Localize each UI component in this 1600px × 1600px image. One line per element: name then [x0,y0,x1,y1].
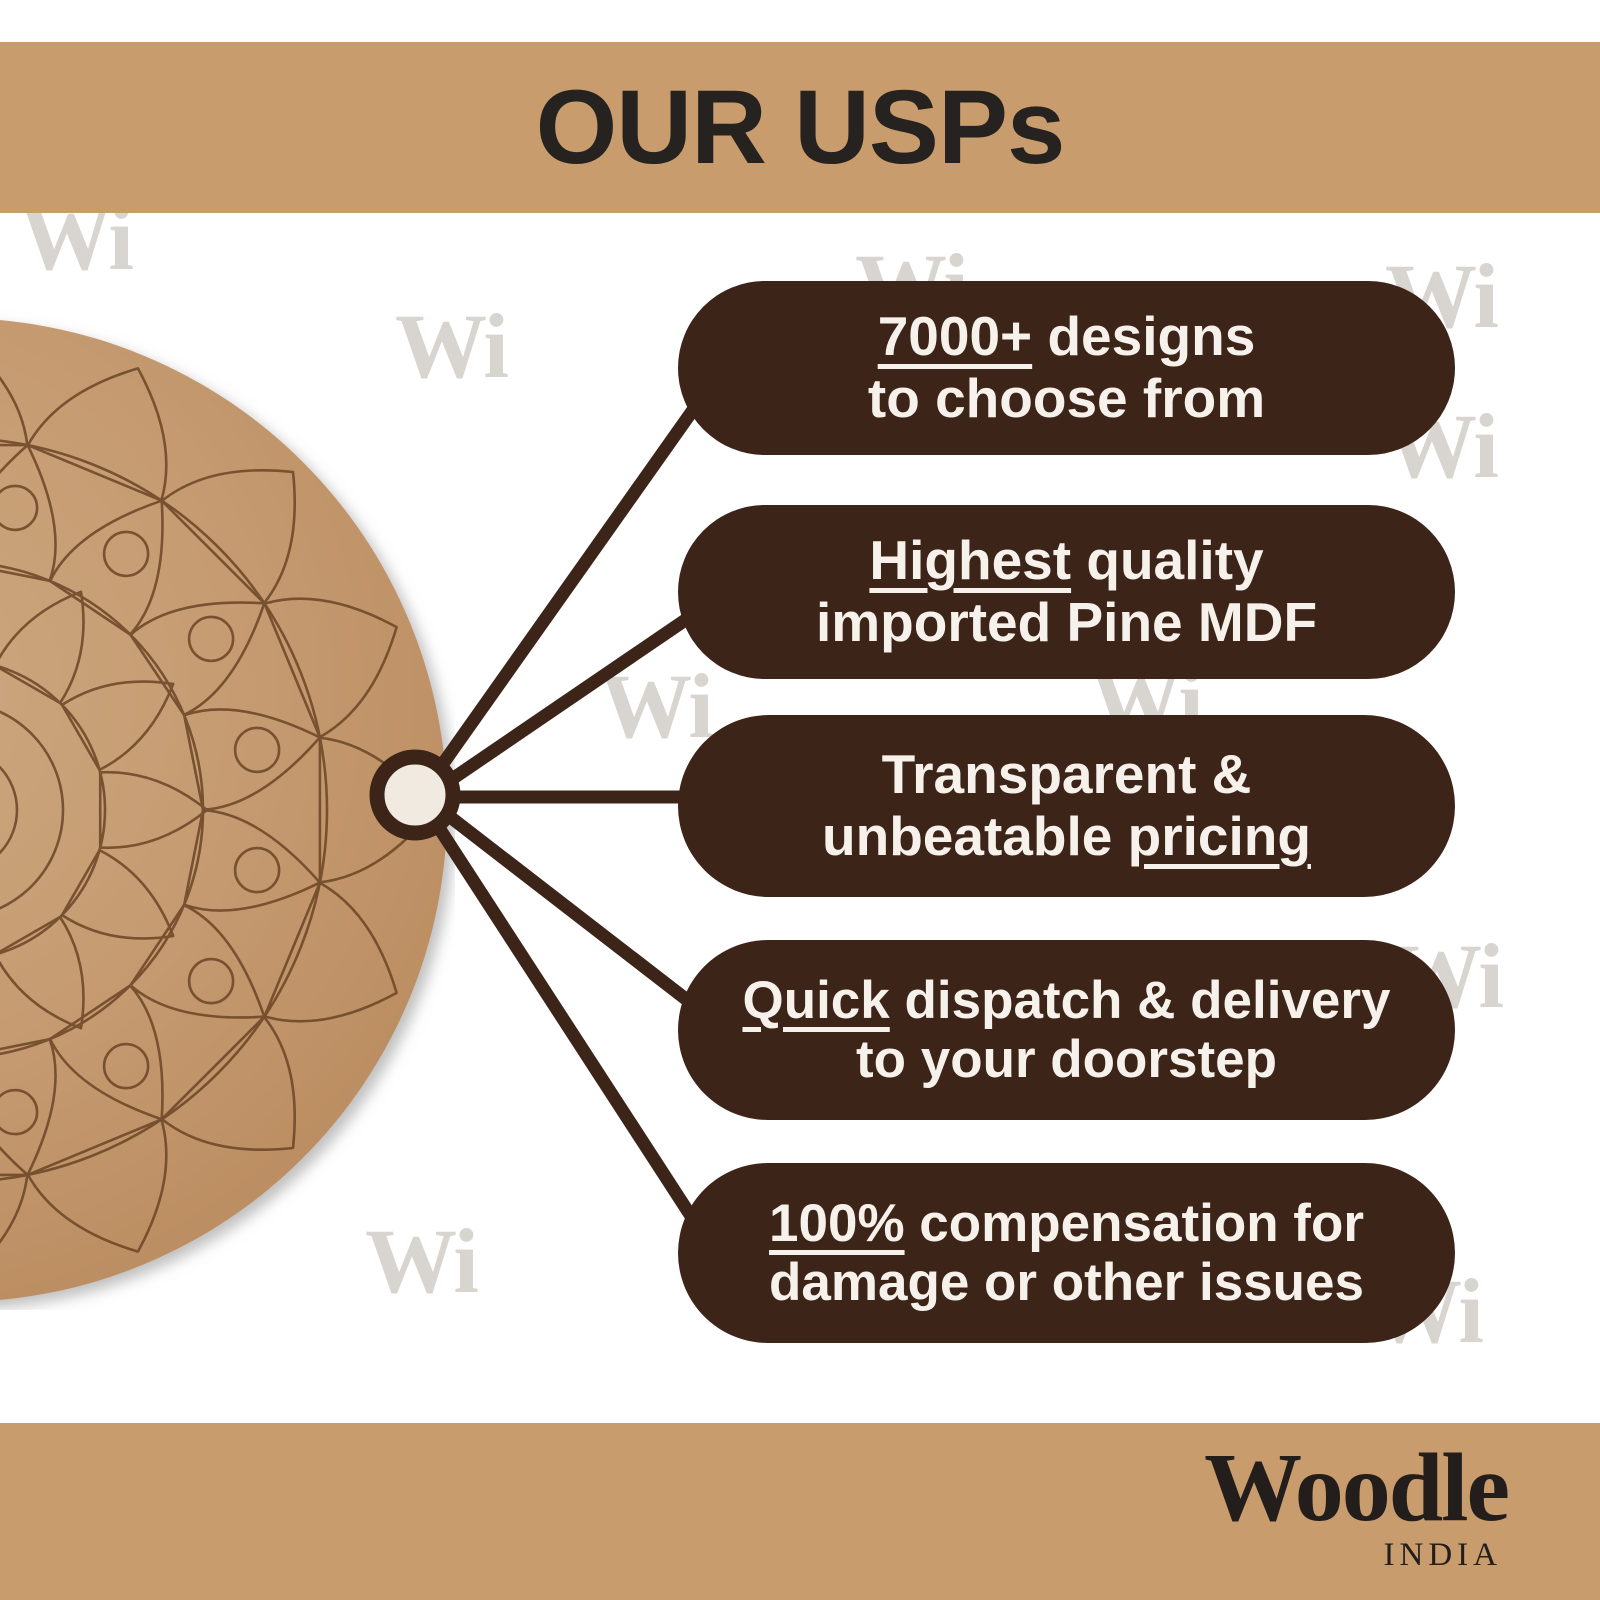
brand-name: Woodle [1204,1439,1508,1537]
usp-card-line: Quick dispatch & delivery [742,971,1390,1030]
header-banner: OUR USPs [0,42,1600,213]
usp-card-line: imported Pine MDF [816,592,1317,654]
usp-card-line: 7000+ designs [878,306,1256,368]
usp-highlight: 100% [769,1194,905,1253]
usp-text: to choose from [868,367,1265,429]
brand-subtitle: INDIA [1204,1539,1502,1572]
footer-banner: Woodle INDIA [0,1423,1600,1600]
usp-highlight: Quick [742,971,889,1030]
usp-text: unbeatable [822,805,1128,867]
usp-text: Transparent & [882,743,1252,805]
brand-logo: Woodle INDIA [1204,1439,1508,1572]
usp-card-compensation[interactable]: 100% compensation for damage or other is… [678,1163,1455,1343]
connector-to-usp-2 [436,610,700,790]
usp-highlight: 7000+ [878,305,1032,367]
page-title: OUR USPs [536,75,1065,180]
usp-card-line: to choose from [868,368,1265,430]
usp-text: imported Pine MDF [816,591,1317,653]
usp-card-line: Highest quality [869,530,1263,592]
usp-card-line: damage or other issues [769,1253,1364,1312]
usp-text: dispatch & delivery [890,971,1391,1030]
mandala-mdf-disc-image [0,310,455,1310]
usp-text: designs [1032,305,1255,367]
usp-card-line: Transparent & [882,744,1252,806]
usp-card-pricing[interactable]: Transparent & unbeatable pricing [678,715,1455,897]
usp-text: to your doorstep [856,1030,1277,1089]
usp-text: damage or other issues [769,1253,1364,1312]
usp-card-dispatch-delivery[interactable]: Quick dispatch & delivery to your doorst… [678,940,1455,1120]
usp-highlight: pricing [1128,805,1311,867]
usp-text: quality [1071,529,1264,591]
usp-highlight: Highest [869,529,1071,591]
connector-to-usp-5 [430,814,700,1230]
usp-card-designs-count[interactable]: 7000+ designs to choose from [678,281,1455,455]
usp-text: compensation for [905,1194,1364,1253]
connector-to-usp-1 [430,400,700,782]
connector-to-usp-4 [436,806,700,1010]
usp-card-material-quality[interactable]: Highest quality imported Pine MDF [678,505,1455,679]
infographic-canvas: WiWiWiWiWiWiWiWiWiWiWi [0,0,1600,1600]
usp-card-line: 100% compensation for [769,1194,1364,1253]
usp-card-line: to your doorstep [856,1030,1277,1089]
usp-card-line: unbeatable pricing [822,806,1311,868]
watermark-wi-5: Wi [600,660,712,752]
